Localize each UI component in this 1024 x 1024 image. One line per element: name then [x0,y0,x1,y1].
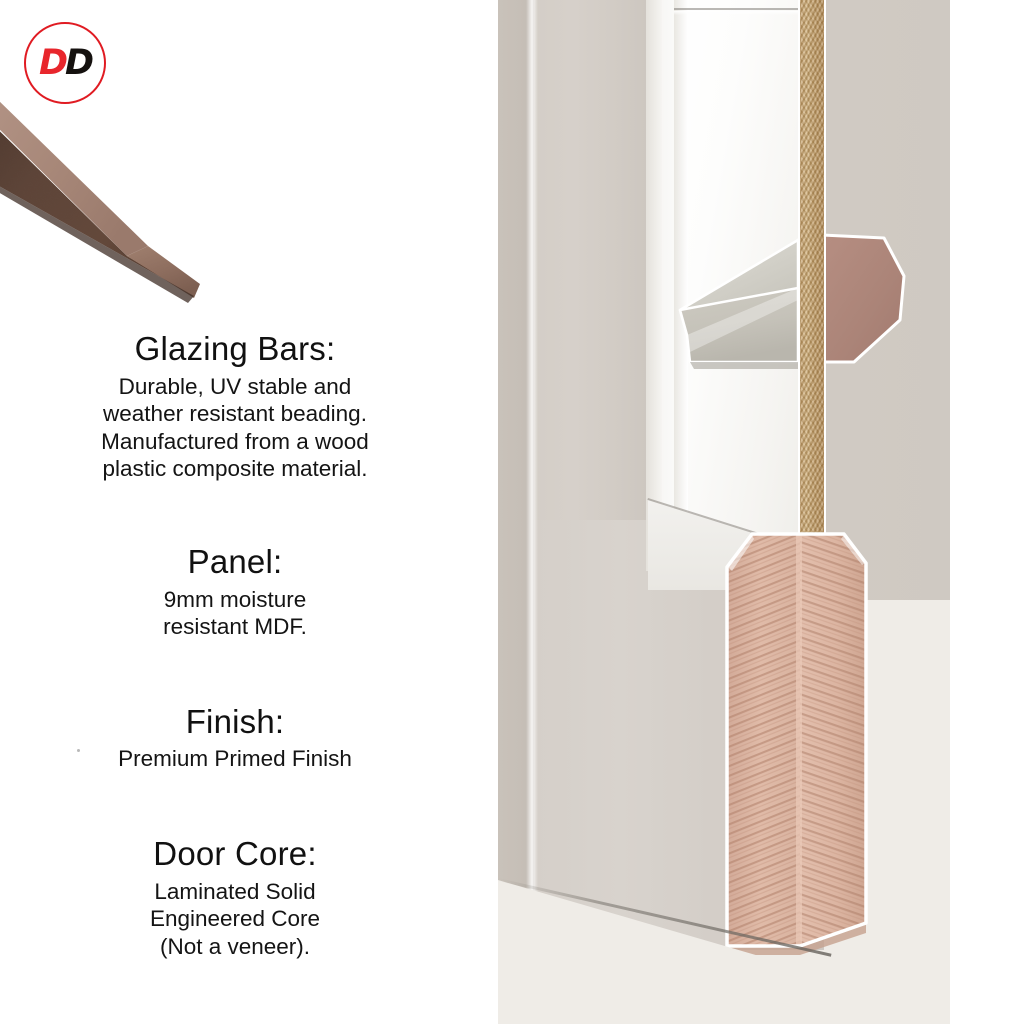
mdf-core-strip [798,0,826,554]
spec-body-panel: 9mm moisture resistant MDF. [0,586,470,641]
laminated-engineered-core [724,505,870,975]
spec-body-glazing-bars: Durable, UV stable and weather resistant… [0,373,470,483]
image-speck [77,749,80,752]
brand-logo: DD [24,22,106,104]
spec-body-finish: Premium Primed Finish [0,745,470,772]
brand-logo-text: DD [39,46,91,81]
spec-title-glazing-bars: Glazing Bars: [0,330,470,369]
brand-logo-letter-1: D [39,43,65,83]
specification-text-column: Glazing Bars: Durable, UV stable and wea… [0,330,470,966]
spec-title-panel: Panel: [0,543,470,582]
product-detail-image: DD [0,0,1024,1024]
brand-logo-letter-2: D [65,43,91,83]
spec-title-finish: Finish: [0,703,470,742]
spec-body-door-core: Laminated Solid Engineered Core (Not a v… [0,878,470,960]
door-cutaway-photo [498,0,950,1024]
spec-block-glazing-bars: Glazing Bars: Durable, UV stable and wea… [0,330,470,483]
spec-title-door-core: Door Core: [0,835,470,874]
door-edge-highlight [526,0,538,960]
spec-block-door-core: Door Core: Laminated Solid Engineered Co… [0,835,470,960]
spec-block-panel: Panel: 9mm moisture resistant MDF. [0,543,470,641]
beading-sample-photo [0,96,238,311]
spec-block-finish: Finish: Premium Primed Finish [0,703,470,773]
